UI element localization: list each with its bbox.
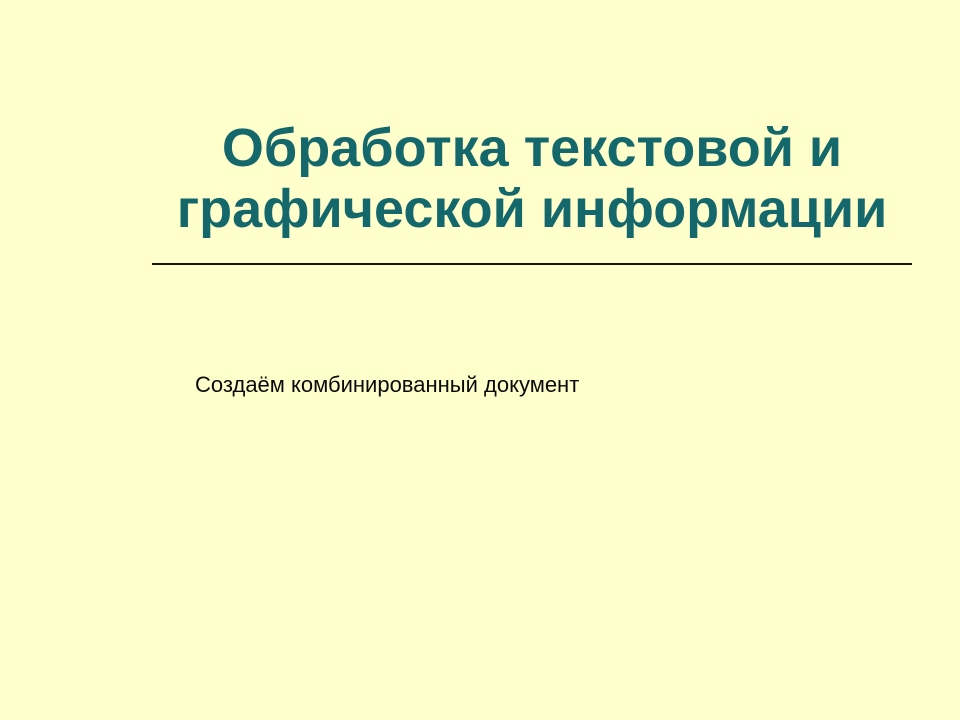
page-title: Обработка текстовой и графической информ…: [152, 118, 912, 240]
title-divider: [152, 263, 912, 265]
slide-subtitle: Создаём комбинированный документ: [195, 371, 815, 399]
title-block: Обработка текстовой и графической информ…: [152, 118, 912, 240]
presentation-slide: Обработка текстовой и графической информ…: [0, 0, 960, 720]
subtitle-block: Создаём комбинированный документ: [195, 371, 815, 399]
